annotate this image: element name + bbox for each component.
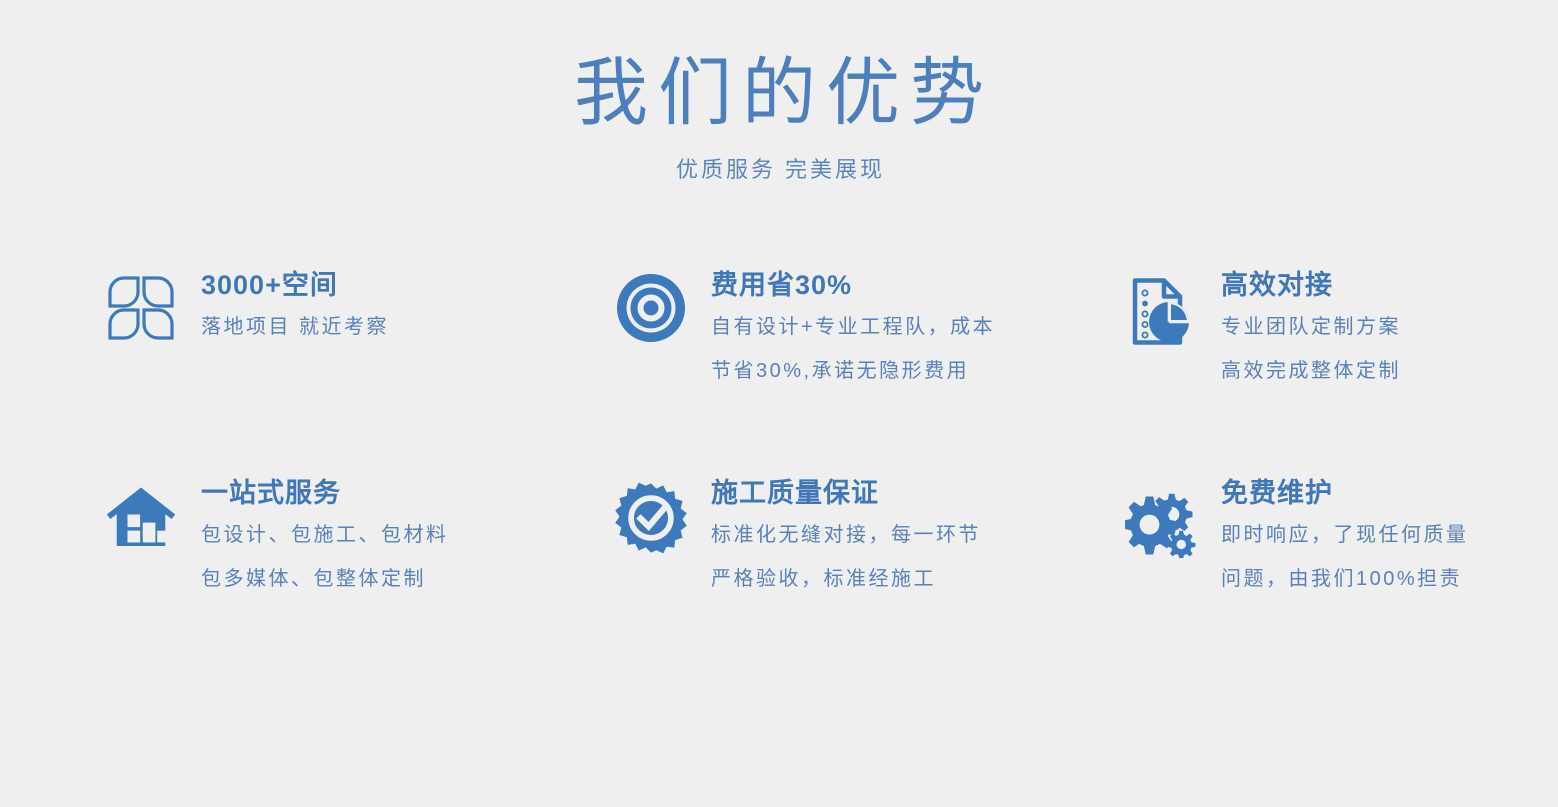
gears-icon (1125, 476, 1197, 558)
feature-grid: 3000+空间 落地项目 就近考察 费用省30% 自有设计+专 (0, 268, 1558, 589)
feature-title: 施工质量保证 (711, 478, 981, 509)
page-title: 我们的优势 (0, 56, 1558, 130)
target-icon (615, 268, 687, 350)
feature-title: 一站式服务 (201, 478, 449, 509)
feature-title: 高效对接 (1221, 270, 1401, 301)
feature-line: 节省30%,承诺无隐形费用 (711, 361, 995, 381)
feature-line: 高效完成整体定制 (1221, 361, 1401, 381)
feature-text-block: 3000+空间 落地项目 就近考察 (201, 268, 389, 337)
badge-check-icon (615, 476, 687, 558)
feature-line: 专业团队定制方案 (1221, 317, 1401, 337)
feature-title: 3000+空间 (201, 270, 389, 301)
feature-title: 免费维护 (1221, 478, 1469, 509)
feature-line: 包设计、包施工、包材料 (201, 525, 449, 545)
feature-line: 问题，由我们100%担责 (1221, 569, 1469, 589)
four-petals-icon (105, 268, 177, 350)
feature-item-cost-saving: 费用省30% 自有设计+专业工程队，成本 节省30%,承诺无隐形费用 (615, 268, 1125, 476)
feature-line: 自有设计+专业工程队，成本 (711, 317, 995, 337)
house-icon (105, 476, 177, 558)
page-header: 我们的优势 优质服务 完美展现 (0, 0, 1558, 184)
feature-line: 即时响应，了现任何质量 (1221, 525, 1469, 545)
feature-text-block: 一站式服务 包设计、包施工、包材料 包多媒体、包整体定制 (201, 476, 449, 589)
feature-item-efficient-handover: 高效对接 专业团队定制方案 高效完成整体定制 (1125, 268, 1558, 476)
feature-item-one-stop-service: 一站式服务 包设计、包施工、包材料 包多媒体、包整体定制 (105, 476, 615, 589)
feature-item-free-maintenance: 免费维护 即时响应，了现任何质量 问题，由我们100%担责 (1125, 476, 1558, 589)
feature-text-block: 免费维护 即时响应，了现任何质量 问题，由我们100%担责 (1221, 476, 1469, 589)
feature-item-space: 3000+空间 落地项目 就近考察 (105, 268, 615, 476)
feature-line: 标准化无缝对接，每一环节 (711, 525, 981, 545)
page-subtitle: 优质服务 完美展现 (0, 130, 1558, 184)
feature-line: 严格验收，标准经施工 (711, 569, 981, 589)
feature-item-quality-guarantee: 施工质量保证 标准化无缝对接，每一环节 严格验收，标准经施工 (615, 476, 1125, 589)
feature-line: 落地项目 就近考察 (201, 317, 389, 337)
document-pie-chart-icon (1125, 268, 1197, 350)
feature-text-block: 费用省30% 自有设计+专业工程队，成本 节省30%,承诺无隐形费用 (711, 268, 995, 381)
feature-title: 费用省30% (711, 270, 995, 301)
feature-line: 包多媒体、包整体定制 (201, 569, 449, 589)
feature-text-block: 高效对接 专业团队定制方案 高效完成整体定制 (1221, 268, 1401, 381)
feature-text-block: 施工质量保证 标准化无缝对接，每一环节 严格验收，标准经施工 (711, 476, 981, 589)
